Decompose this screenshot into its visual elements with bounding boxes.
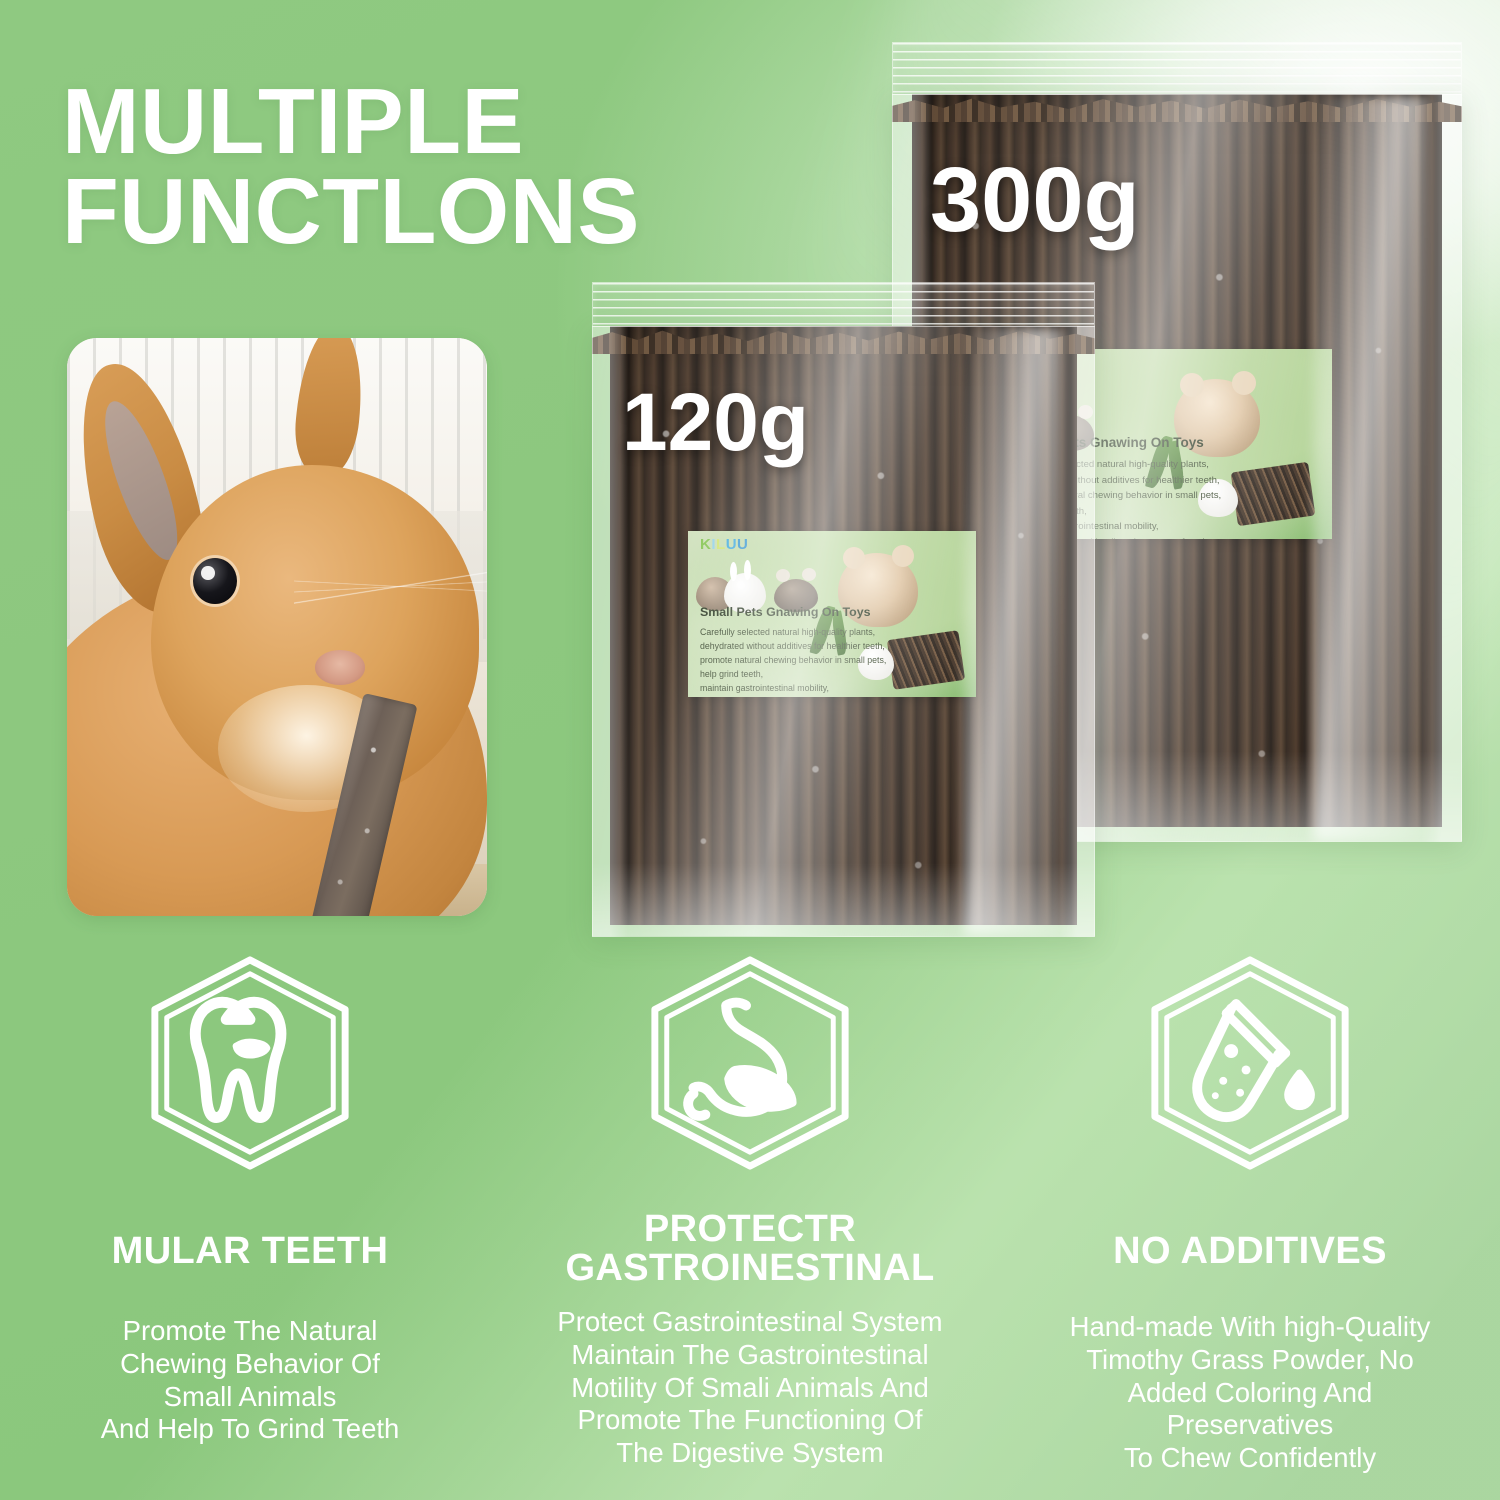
label-line: promote natural chewing behavior in smal… [700,653,886,667]
bag-front-label: KILUU Small Pets Gnawing On Toys Careful… [688,531,976,697]
label-stick-pile [887,630,965,690]
label-chinchilla-ear [776,569,790,582]
label-line: maintain gastrointestinal mobility, [700,681,886,695]
test-tube-icon [1131,952,1369,1174]
feature-protect-gastrointestinal: PROTECTR GASTROINESTINAL Protect Gastroi… [500,952,1000,1475]
label-chinchilla-ear-2 [802,568,816,581]
feature-title: MULAR TEETH [112,1232,389,1271]
rabbit-chewing-photo [67,338,487,916]
bag-zip-seal [592,282,1095,326]
label-title-front: Small Pets Gnawing On Toys [700,605,871,619]
features-row: MULAR TEETH Promote The Natural Chewing … [0,952,1500,1475]
tooth-icon [131,952,369,1174]
label-body-front: Carefully selected natural high-quality … [700,625,886,697]
rabbit-eye-glint [201,566,214,580]
label-line: help grind teeth, [700,667,886,681]
stomach-icon [631,952,869,1174]
label-hamster-ear [843,547,865,569]
feature-description: Promote The Natural Chewing Behavior Of … [101,1315,400,1446]
label-stick-pile [1231,462,1316,526]
feature-description: Protect Gastrointestinal System Maintain… [557,1306,942,1470]
label-hamster-ear-2 [892,545,914,567]
label-line: dehydrated without additives for healthi… [700,639,886,653]
feature-title: NO ADDITIVES [1113,1232,1387,1271]
feature-no-additives: NO ADDITIVES Hand-made With high-Quality… [1000,952,1500,1475]
label-line: Carefully selected natural high-quality … [700,625,886,639]
label-hamster-ear-2 [1232,371,1256,395]
label-hamster-ear [1180,373,1204,397]
label-rabbit-ear-2 [744,560,751,580]
feature-description: Hand-made With high-Quality Timothy Gras… [1070,1311,1431,1475]
rabbit-nose [315,650,365,685]
page-title: MULTIPLE FUNCTLONS [62,76,640,256]
rabbit-whiskers [294,500,487,673]
brand-logo-front: KILUU [700,537,748,552]
bag-zip-seal [892,42,1462,94]
feature-mular-teeth: MULAR TEETH Promote The Natural Chewing … [0,952,500,1475]
rabbit-eye [193,558,237,604]
label-rabbit-ear [730,562,737,581]
feature-title: PROTECTR GASTROINESTINAL [565,1210,934,1288]
weight-label-120g: 120g [622,376,809,470]
weight-label-300g: 300g [930,148,1140,253]
label-line: and promote healthy digestive system fun… [700,695,886,697]
